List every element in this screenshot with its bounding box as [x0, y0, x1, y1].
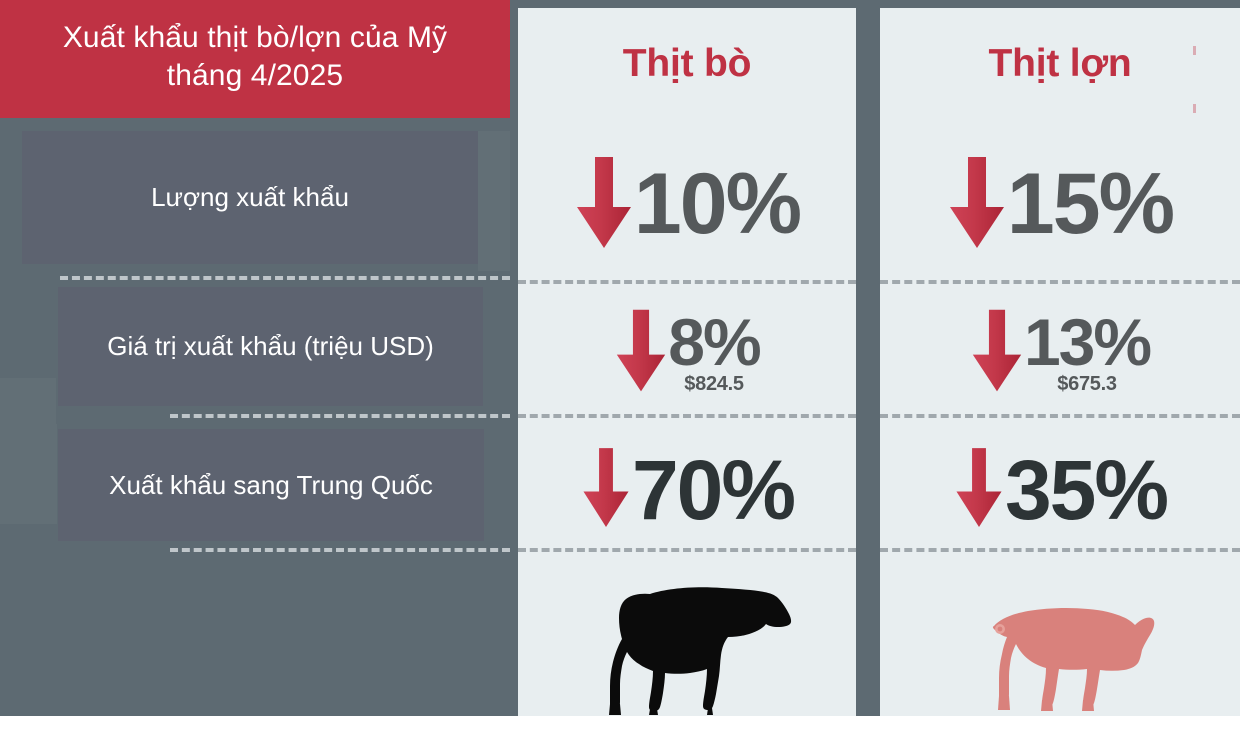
row-divider — [880, 548, 1240, 552]
stat-percent: 35% — [1005, 452, 1167, 529]
title-banner: Xuất khẩu thịt bò/lợn của Mỹ tháng 4/202… — [0, 0, 510, 118]
left-panel: Xuất khẩu thịt bò/lợn của Mỹ tháng 4/202… — [0, 0, 510, 716]
row-label-quantity: Lượng xuất khẩu — [22, 131, 478, 264]
stat-pork-china: 35% — [880, 428, 1240, 553]
row-divider — [60, 276, 510, 280]
row-label-text: Xuất khẩu sang Trung Quốc — [109, 468, 433, 503]
stat-percent: 70% — [632, 452, 794, 529]
column-title: Thịt lợn — [988, 42, 1131, 86]
decorative-plate — [0, 424, 57, 524]
arrow-down-icon — [970, 308, 1024, 399]
stat-subvalue: $675.3 — [1057, 375, 1116, 393]
stat-percent: 8% — [668, 312, 759, 373]
stat-beef-china: 70% — [518, 428, 856, 553]
stat-beef-quantity: 10% — [518, 130, 856, 280]
stat-percent: 10% — [634, 165, 800, 244]
row-label-text: Giá trị xuất khẩu (triệu USD) — [107, 329, 434, 364]
stat-beef-value: 8% $824.5 — [518, 290, 856, 416]
row-label-text: Lượng xuất khẩu — [151, 180, 349, 215]
decorative-mark — [1193, 104, 1196, 113]
stat-pork-value: 13% $675.3 — [880, 290, 1240, 416]
stat-pork-quantity: 15% — [880, 130, 1240, 280]
column-title: Thịt bò — [623, 42, 752, 86]
arrow-down-icon — [953, 442, 1005, 539]
column-header-pork: Thịt lợn — [880, 8, 1240, 120]
column-card-pork: Thịt lợn — [880, 8, 1240, 716]
decorative-plate — [478, 131, 510, 271]
arrow-down-icon — [947, 155, 1007, 256]
row-label-value: Giá trị xuất khẩu (triệu USD) — [58, 287, 483, 406]
stat-percent: 13% — [1024, 312, 1150, 373]
row-divider — [170, 548, 510, 552]
row-divider — [518, 280, 856, 284]
title-line-2: tháng 4/2025 — [167, 59, 343, 92]
arrow-down-icon — [614, 308, 668, 399]
stat-percent: 15% — [1007, 165, 1173, 244]
decorative-mark — [1193, 46, 1196, 55]
row-divider — [518, 548, 856, 552]
pig-icon — [880, 564, 1240, 716]
arrow-down-icon — [580, 442, 632, 539]
stat-subvalue: $824.5 — [684, 375, 743, 393]
column-header-beef: Thịt bò — [518, 8, 856, 120]
column-card-beef: Thịt bò — [518, 8, 856, 716]
column-divider — [856, 0, 880, 744]
row-label-china: Xuất khẩu sang Trung Quốc — [58, 429, 484, 541]
arrow-down-icon — [574, 155, 634, 256]
infographic-root: Xuất khẩu thịt bò/lợn của Mỹ tháng 4/202… — [0, 0, 1240, 744]
decorative-plate — [0, 378, 56, 424]
row-divider — [518, 414, 856, 418]
title-line-1: Xuất khẩu thịt bò/lợn của Mỹ — [63, 21, 447, 54]
row-divider — [880, 414, 1240, 418]
row-divider — [170, 414, 510, 418]
bottom-strip — [0, 716, 1240, 744]
row-divider — [880, 280, 1240, 284]
page-title: Xuất khẩu thịt bò/lợn của Mỹ tháng 4/202… — [63, 19, 447, 96]
cow-icon — [518, 564, 856, 716]
